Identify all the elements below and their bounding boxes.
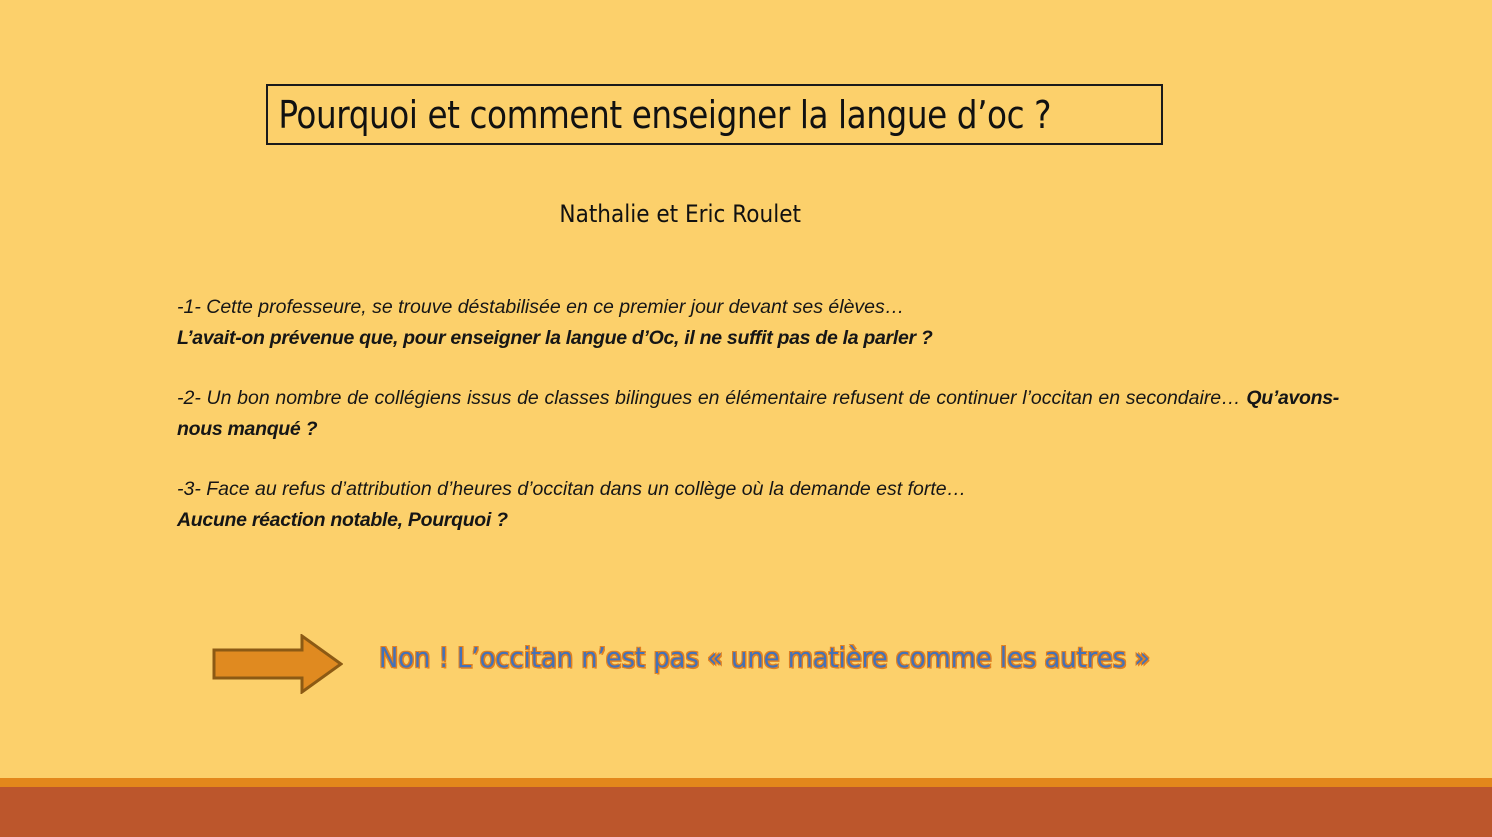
right-arrow-icon	[212, 634, 343, 694]
authors-label: Nathalie et Eric Roulet	[559, 200, 801, 229]
paragraph-3-lead: -3- Face au refus d’attribution d’heures…	[177, 478, 966, 500]
paragraph-2-lead: -2- Un bon nombre de collégiens issus de…	[177, 387, 1246, 409]
paragraph-2: -2- Un bon nombre de collégiens issus de…	[177, 383, 1339, 445]
conclusion-label: Non ! L’occitan n’est pas « une matière …	[379, 628, 1150, 688]
slide-title-box: Pourquoi et comment enseigner la langue …	[266, 84, 1163, 145]
paragraph-1-lead: -1- Cette professeure, se trouve déstabi…	[177, 296, 904, 318]
slide-canvas: Pourquoi et comment enseigner la langue …	[0, 0, 1492, 837]
footer-stripe	[0, 778, 1492, 787]
footer-band	[0, 787, 1492, 837]
paragraph-3-emphasis: Aucune réaction notable, Pourquoi ?	[177, 505, 1339, 536]
paragraph-3: -3- Face au refus d’attribution d’heures…	[177, 474, 1339, 536]
body-content: -1- Cette professeure, se trouve déstabi…	[177, 292, 1339, 536]
paragraph-1: -1- Cette professeure, se trouve déstabi…	[177, 292, 1339, 354]
authors-line: Nathalie et Eric Roulet	[0, 200, 1360, 229]
paragraph-1-emphasis: L’avait-on prévenue que, pour enseigner …	[177, 323, 1339, 354]
conclusion-text: Non ! L’occitan n’est pas « une matière …	[379, 628, 1217, 688]
conclusion-row: Non ! L’occitan n’est pas « une matière …	[212, 628, 1332, 694]
page-title: Pourquoi et comment enseigner la langue …	[268, 96, 1051, 134]
